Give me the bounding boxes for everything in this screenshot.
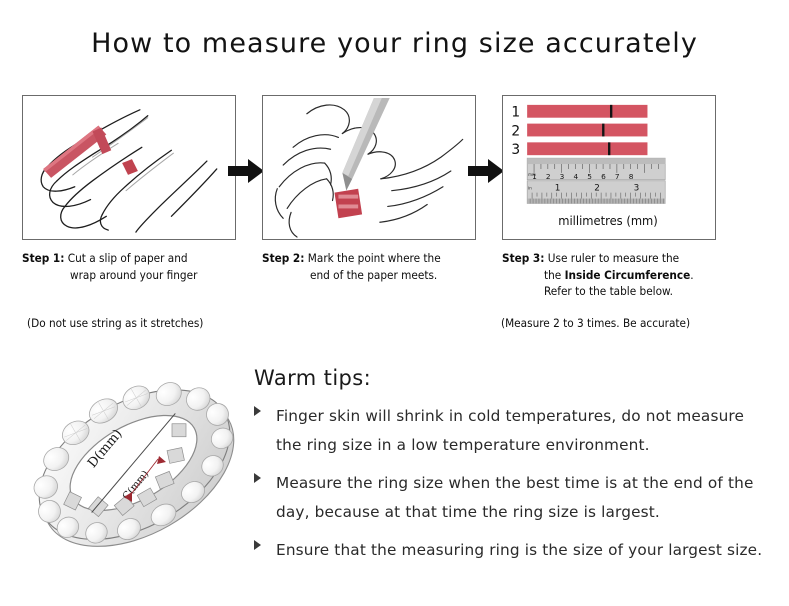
svg-text:2: 2: [594, 184, 600, 194]
hand-paper-slip-drawing: [23, 96, 235, 239]
svg-text:in: in: [528, 186, 532, 191]
svg-text:7: 7: [615, 172, 620, 181]
tip-text: Ensure that the measuring ring is the si…: [276, 536, 764, 565]
step-3-line3: Refer to the table below.: [502, 283, 752, 300]
step-2-label: Step 2:: [262, 251, 304, 265]
strip-label-1: 1: [511, 105, 520, 121]
svg-text:8: 8: [629, 172, 634, 181]
strip-label-3: 3: [511, 142, 520, 158]
step-2-caption: Step 2: Mark the point where the end of …: [262, 250, 502, 283]
tip-text: Finger skin will shrink in cold temperat…: [276, 402, 764, 460]
ruler-graphic: 123 456 78 mm 123 in: [527, 158, 665, 203]
page-title: How to measure your ring size accurately: [0, 28, 789, 59]
svg-text:1: 1: [555, 184, 561, 194]
step-1-line1: Cut a slip of paper and: [68, 251, 188, 265]
tip-text: Measure the ring size when the best time…: [276, 469, 764, 527]
step-1-illustration-panel: [22, 95, 236, 240]
step-3-illustration-panel: 1 2 3 123 456 78 mm: [502, 95, 716, 240]
step-1-note: (Do not use string as it stretches): [27, 316, 203, 330]
triangle-bullet-icon: [254, 406, 261, 416]
warm-tips-heading: Warm tips:: [254, 366, 371, 390]
step-3-line2: the Inside Circumference.: [502, 267, 752, 284]
svg-text:3: 3: [634, 184, 640, 194]
ruler-caption: millimetres (mm): [558, 214, 658, 229]
inside-circumference-emphasis: Inside Circumference: [565, 268, 691, 282]
svg-text:4: 4: [573, 172, 578, 181]
arrow-step1-to-step2: [228, 158, 264, 184]
arrow-step2-to-step3: [468, 158, 504, 184]
red-wrap-2: [122, 159, 138, 175]
triangle-bullet-icon: [254, 540, 261, 550]
step-3-line2-prefix: the: [544, 268, 565, 282]
warm-tips-list: Finger skin will shrink in cold temperat…: [254, 402, 764, 574]
step-3-line2-suffix: .: [690, 268, 693, 282]
triangle-bullet-icon: [254, 473, 261, 483]
hand-marking-pen-drawing: [263, 96, 475, 239]
step-3-caption: Step 3: Use ruler to measure the the Ins…: [502, 250, 752, 300]
tip-item: Ensure that the measuring ring is the si…: [254, 536, 764, 565]
step-1-caption: Step 1: Cut a slip of paper and wrap aro…: [22, 250, 262, 283]
pen-icon: [342, 98, 389, 191]
svg-text:5: 5: [587, 172, 592, 181]
svg-text:2: 2: [546, 172, 551, 181]
step-2-illustration-panel: [262, 95, 476, 240]
step-1-line2: wrap around your finger: [22, 267, 262, 284]
ring-size-guide-page: How to measure your ring size accurately: [0, 0, 789, 606]
svg-text:3: 3: [560, 172, 565, 181]
step-3-label: Step 3:: [502, 251, 544, 265]
tip-item: Finger skin will shrink in cold temperat…: [254, 402, 764, 460]
svg-text:6: 6: [601, 172, 606, 181]
eternity-ring-drawing: D(mm) C(mm): [20, 352, 255, 587]
step-3-line1: Use ruler to measure the: [548, 251, 679, 265]
step-2-line1: Mark the point where the: [308, 251, 441, 265]
measure-strips-and-ruler-drawing: 1 2 3 123 456 78 mm: [503, 96, 715, 239]
tip-item: Measure the ring size when the best time…: [254, 469, 764, 527]
step-1-label: Step 1:: [22, 251, 64, 265]
step-3-note: (Measure 2 to 3 times. Be accurate): [501, 316, 690, 330]
ring-dimensions-illustration: D(mm) C(mm): [20, 352, 255, 587]
red-paper-on-finger: [334, 189, 362, 219]
step-2-line2: end of the paper meets.: [262, 267, 502, 284]
strip-label-2: 2: [511, 123, 520, 139]
svg-text:mm: mm: [528, 172, 536, 177]
